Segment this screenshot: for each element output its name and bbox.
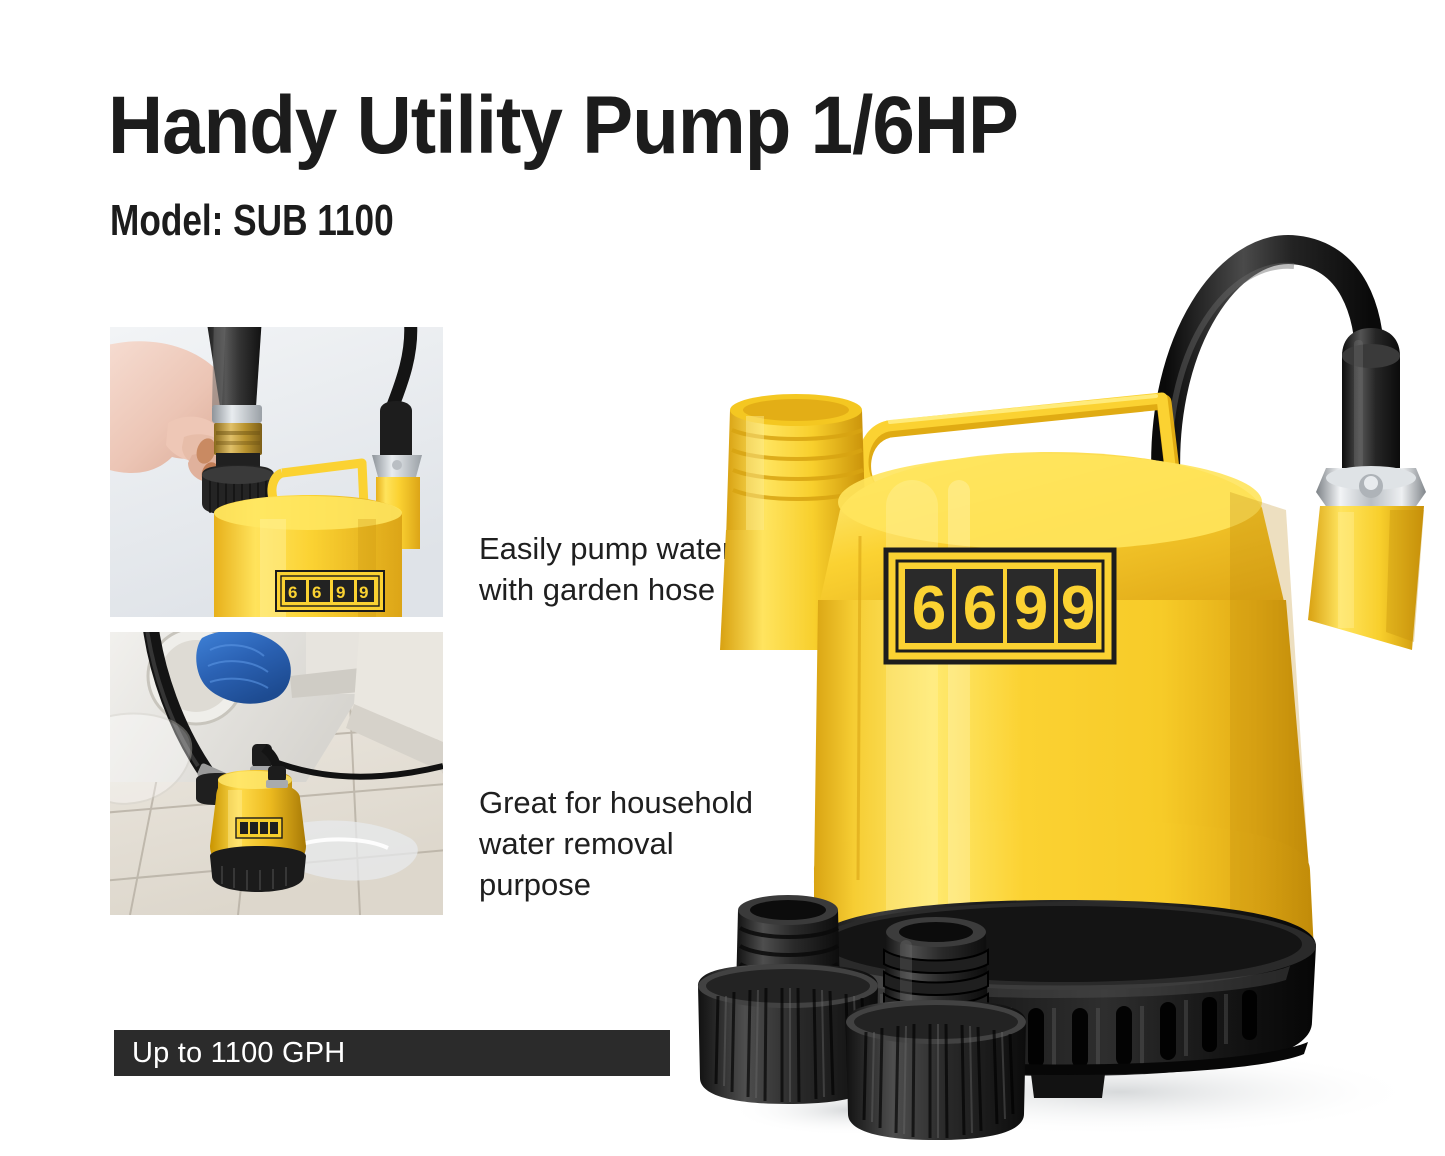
svg-text:6: 6 <box>288 583 297 602</box>
page-title: Handy Utility Pump 1/6HP <box>108 82 1018 170</box>
gph-banner-text: Up to 1100 GPH <box>114 1037 345 1070</box>
svg-text:9: 9 <box>1061 574 1095 643</box>
chrome-collar <box>1316 466 1426 512</box>
hose-connection-photo: 66 99 <box>110 327 443 617</box>
product-infographic: Handy Utility Pump 1/6HP Model: SUB 1100 <box>0 0 1445 1156</box>
cord-mount-post <box>1308 506 1424 650</box>
svg-text:9: 9 <box>336 583 345 602</box>
power-cord <box>1166 250 1370 480</box>
svg-text:9: 9 <box>1014 574 1048 643</box>
svg-text:6: 6 <box>312 583 321 602</box>
laundry-floor-photo <box>110 632 443 915</box>
model-subtitle: Model: SUB 1100 <box>110 196 394 246</box>
gph-banner: Up to 1100 GPH <box>114 1030 670 1076</box>
product-hero-image: 6 6 9 9 <box>690 180 1430 1156</box>
svg-text:9: 9 <box>359 583 368 602</box>
cord-strain-relief <box>1342 328 1400 472</box>
svg-text:6: 6 <box>963 574 997 643</box>
svg-text:6: 6 <box>912 574 946 643</box>
brand-badge: 6 6 9 9 <box>886 550 1114 662</box>
